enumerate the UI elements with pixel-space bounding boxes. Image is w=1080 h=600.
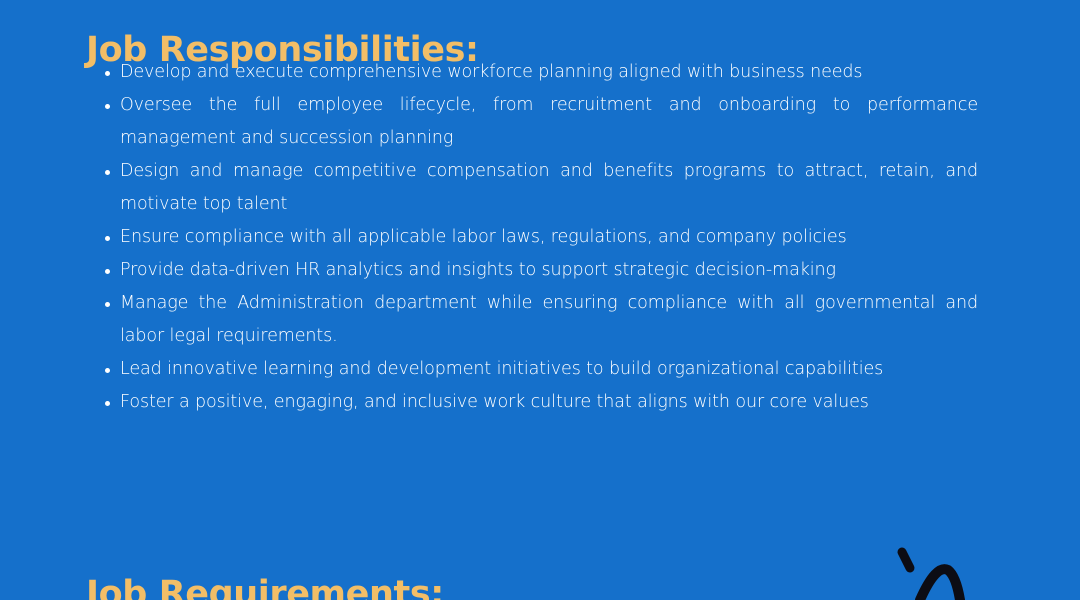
list-item-label: Design and manage competitive compensati… [120, 161, 978, 214]
responsibilities-bullet-list: Develop and execute comprehensive workfo… [86, 56, 978, 419]
list-item: Manage the Administration department whi… [86, 287, 978, 353]
list-item-label: Foster a positive, engaging, and inclusi… [120, 392, 869, 412]
page-title-job-requirements: Job Requirements: [86, 577, 444, 600]
list-item-label: Provide data-driven HR analytics and ins… [120, 260, 836, 280]
list-item: Foster a positive, engaging, and inclusi… [86, 386, 978, 419]
hand-drawn-arch-doodle-icon [884, 538, 994, 600]
list-item: Ensure compliance with all applicable la… [86, 221, 978, 254]
list-item: Lead innovative learning and development… [86, 353, 978, 386]
list-item-label: Ensure compliance with all applicable la… [120, 227, 847, 247]
list-item-label: Manage the Administration department whi… [120, 293, 978, 346]
list-item-label: Lead innovative learning and development… [120, 359, 883, 379]
list-item: Develop and execute comprehensive workfo… [86, 56, 978, 89]
list-item-label: Develop and execute comprehensive workfo… [120, 62, 862, 82]
list-item: Provide data-driven HR analytics and ins… [86, 254, 978, 287]
list-item-label: Oversee the full employee lifecycle, fro… [120, 95, 978, 148]
list-item: Oversee the full employee lifecycle, fro… [86, 89, 978, 155]
slide-canvas: Job Responsibilities: Develop and execut… [0, 0, 1080, 600]
list-item: Design and manage competitive compensati… [86, 155, 978, 221]
